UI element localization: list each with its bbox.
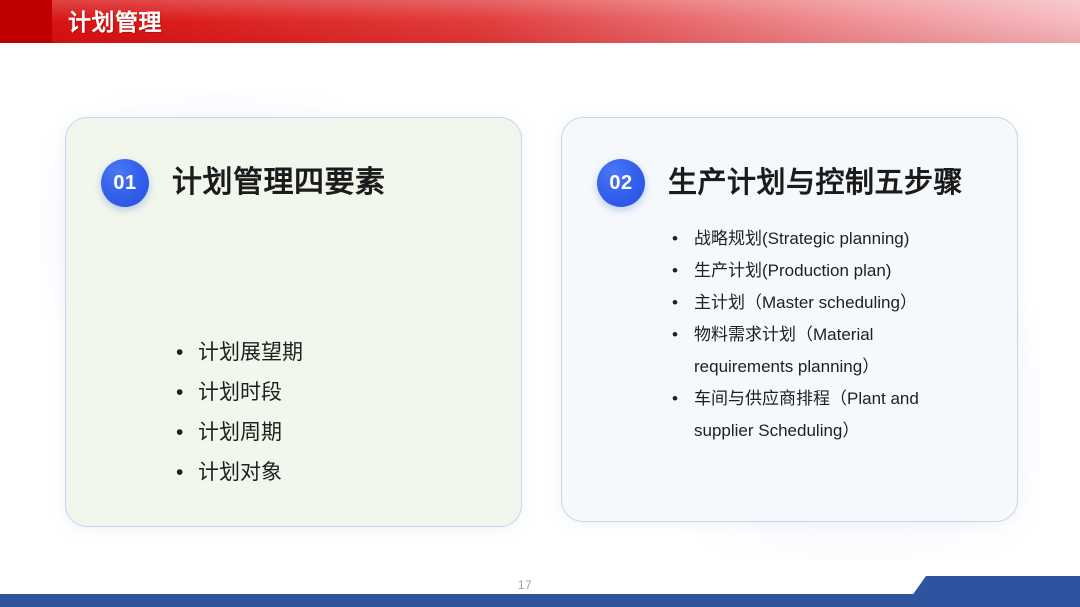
page-number: 17 [498,578,552,592]
list-item-label: 计划时段 [198,373,521,413]
list-item: • 计划展望期 [176,333,521,373]
list-item-label: 计划展望期 [198,333,521,373]
bullet-dot-icon: • [176,373,198,413]
card-title-01: 计划管理四要素 [172,165,386,201]
bullet-dot-icon: • [672,223,694,255]
list-item: • 物料需求计划（Material requirements planning） [672,319,964,383]
bullet-dot-icon: • [672,383,694,415]
list-item: • 车间与供应商排程（Plant and supplier Scheduling… [672,383,964,447]
badge-circle-02: 02 [597,159,645,207]
header-bar: 计划管理 [0,0,1080,43]
list-item: • 计划时段 [176,373,521,413]
list-item-label: 计划周期 [198,413,521,453]
list-item: • 战略规划(Strategic planning) [672,223,964,255]
list-item-label: 主计划（Master scheduling） [694,287,964,319]
card-header-01: 01 计划管理四要素 [101,159,386,207]
content-card-02: 02 生产计划与控制五步骤 • 战略规划(Strategic planning)… [561,117,1018,522]
bullet-dot-icon: • [176,333,198,373]
badge-circle-01: 01 [101,159,149,207]
list-item-label: 战略规划(Strategic planning) [694,223,964,255]
bullet-dot-icon: • [672,287,694,319]
card-header-02: 02 生产计划与控制五步骤 [597,159,963,207]
page-title: 计划管理 [68,7,162,37]
list-item-label: 车间与供应商排程（Plant and supplier Scheduling） [694,383,964,447]
list-item: • 生产计划(Production plan) [672,255,964,287]
list-item: • 主计划（Master scheduling） [672,287,964,319]
card-title-02: 生产计划与控制五步骤 [668,165,963,201]
list-item-label: 计划对象 [198,453,521,493]
badge-label: 01 [113,173,136,193]
list-item: • 计划对象 [176,453,521,493]
list-item: • 计划周期 [176,413,521,453]
bullet-dot-icon: • [672,255,694,287]
list-item-label: 生产计划(Production plan) [694,255,964,287]
bullet-dot-icon: • [672,319,694,351]
slide-root: 计划管理 01 计划管理四要素 • 计划展望期 • 计划时段 • 计划周期 [0,0,1080,607]
bullet-list-02: • 战略规划(Strategic planning) • 生产计划(Produc… [562,223,1017,447]
list-item-label: 物料需求计划（Material requirements planning） [694,319,964,383]
content-card-01: 01 计划管理四要素 • 计划展望期 • 计划时段 • 计划周期 • 计划对象 [65,117,522,527]
footer-wedge-shape [880,576,1080,607]
header-accent-block [0,0,52,43]
bullet-list-01: • 计划展望期 • 计划时段 • 计划周期 • 计划对象 [66,333,521,493]
bullet-dot-icon: • [176,413,198,453]
bullet-dot-icon: • [176,453,198,493]
badge-label: 02 [609,173,632,193]
